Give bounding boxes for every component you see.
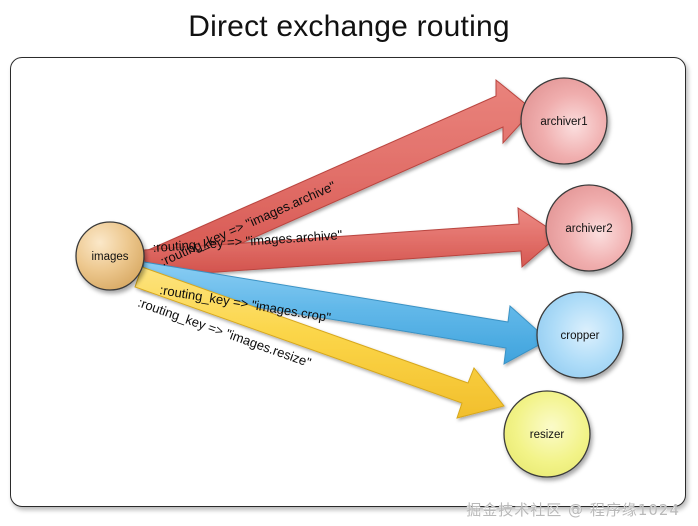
node-images-label: images [91,251,128,263]
node-resizer-label: resizer [530,429,565,441]
node-archiver2-label: archiver2 [565,223,612,235]
watermark: 掘金技术社区 @ 程序缘1024 [466,499,680,520]
node-archiver2[interactable]: archiver2 [546,185,632,271]
node-resizer[interactable]: resizer [504,391,590,477]
node-images[interactable]: images [76,222,144,290]
page-title: Direct exchange routing [0,10,698,44]
node-archiver1[interactable]: archiver1 [521,78,607,164]
diagram-frame: :routing_key => "images.archive" :routin… [10,57,686,507]
node-cropper-label: cropper [561,330,600,342]
node-cropper[interactable]: cropper [537,292,623,378]
node-archiver1-label: archiver1 [540,116,587,128]
routing-diagram: :routing_key => "images.archive" :routin… [11,58,686,507]
